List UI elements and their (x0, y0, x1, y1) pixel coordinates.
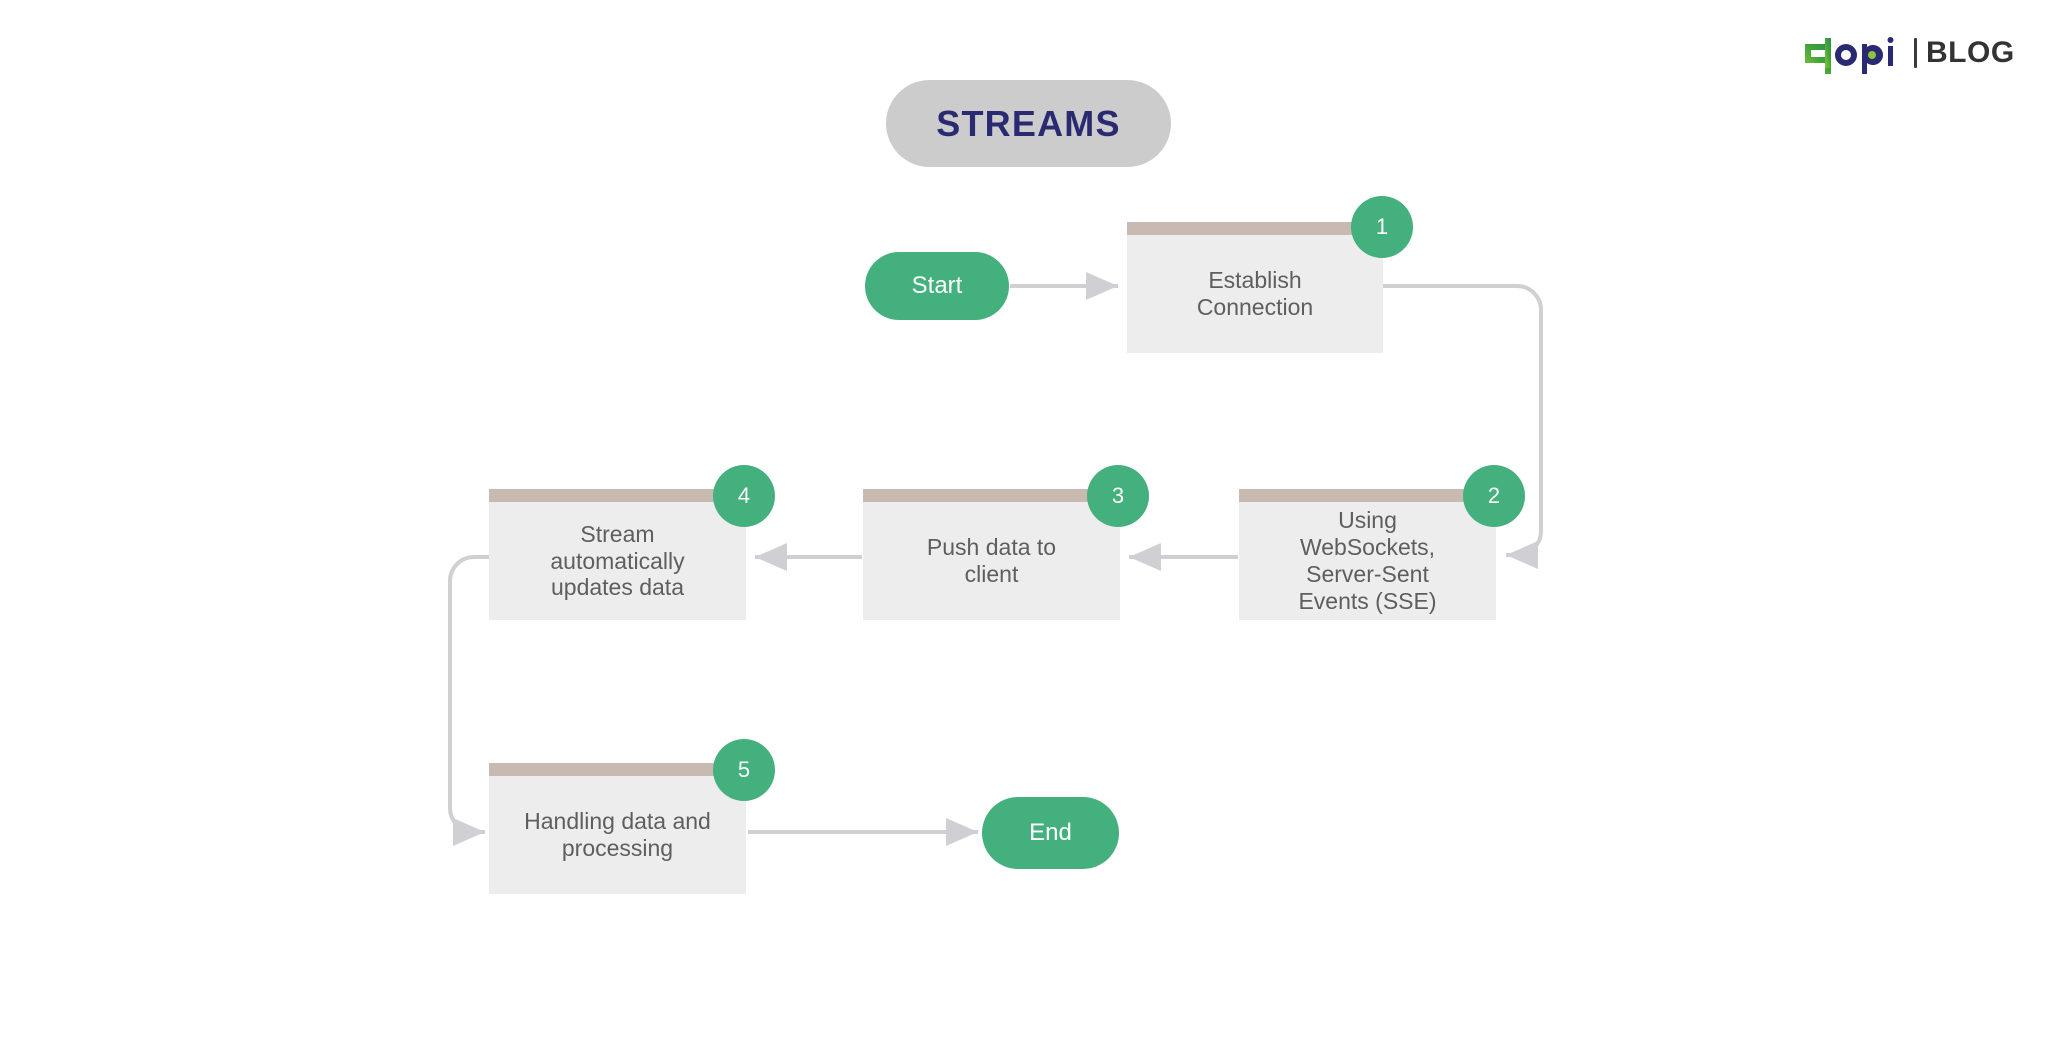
node-4-accent-bar (489, 489, 746, 502)
node-4-badge: 4 (713, 465, 775, 527)
process-node-2[interactable]: Using WebSockets, Server-Sent Events (SS… (1239, 489, 1496, 620)
node-3-badge-number: 3 (1112, 483, 1124, 509)
node-1-accent-bar (1127, 222, 1383, 235)
process-node-1[interactable]: Establish Connection (1127, 222, 1383, 353)
edge-4-to-5 (450, 557, 489, 832)
node-5-accent-bar (489, 763, 746, 776)
node-4-badge-number: 4 (738, 483, 750, 509)
terminal-end-label: End (1029, 819, 1072, 847)
brand-blog-label: BLOG (1926, 38, 2015, 68)
node-2-badge: 2 (1463, 465, 1525, 527)
terminal-end[interactable]: End (982, 797, 1119, 869)
process-node-4[interactable]: Stream automatically updates data (489, 489, 746, 620)
node-2-label: Using WebSockets, Server-Sent Events (SS… (1239, 502, 1496, 620)
node-2-badge-number: 2 (1488, 483, 1500, 509)
node-5-badge: 5 (713, 739, 775, 801)
process-node-5[interactable]: Handling data and processing (489, 763, 746, 894)
node-1-badge: 1 (1351, 196, 1413, 258)
node-1-badge-number: 1 (1376, 214, 1388, 240)
diagram-title-pill: STREAMS (886, 80, 1171, 167)
node-2-accent-bar (1239, 489, 1496, 502)
terminal-start-label: Start (912, 272, 963, 300)
brand-divider (1914, 38, 1917, 68)
node-3-label: Push data to client (863, 502, 1120, 620)
node-5-badge-number: 5 (738, 757, 750, 783)
brand-logo: BLOG (1802, 30, 2015, 76)
terminal-start[interactable]: Start (865, 252, 1009, 320)
node-1-label: Establish Connection (1127, 235, 1383, 353)
node-5-label: Handling data and processing (489, 776, 746, 894)
process-node-3[interactable]: Push data to client (863, 489, 1120, 620)
node-3-accent-bar (863, 489, 1120, 502)
qapi-logo-mark (1802, 32, 1905, 74)
page-title: STREAMS (936, 103, 1120, 145)
node-4-label: Stream automatically updates data (489, 502, 746, 620)
node-3-badge: 3 (1087, 465, 1149, 527)
